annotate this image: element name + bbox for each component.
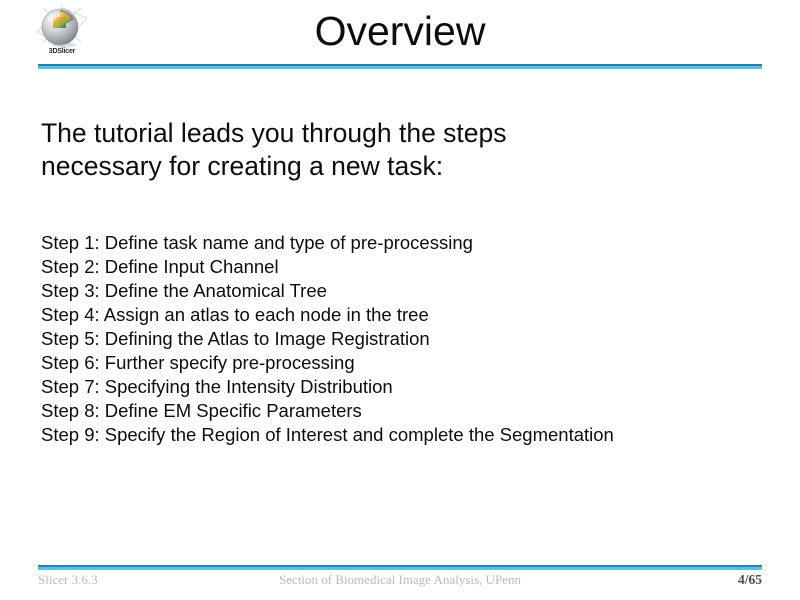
- list-item: Step 9: Specify the Region of Interest a…: [41, 423, 771, 447]
- list-item: Step 5: Defining the Atlas to Image Regi…: [41, 327, 771, 351]
- logo-block: 3DSlicer: [33, 2, 91, 64]
- list-item: Step 2: Define Input Channel: [41, 255, 771, 279]
- list-item: Step 7: Specifying the Intensity Distrib…: [41, 375, 771, 399]
- header-divider: [38, 64, 762, 69]
- list-item: Step 6: Further specify pre-processing: [41, 351, 771, 375]
- list-item: Step 3: Define the Anatomical Tree: [41, 279, 771, 303]
- header-divider-light: [38, 66, 762, 69]
- slide-body: The tutorial leads you through the steps…: [0, 74, 800, 554]
- page-title: Overview: [100, 5, 700, 57]
- logo-label: 3DSlicer: [33, 48, 91, 55]
- page-number: 4/65: [38, 570, 762, 590]
- slide-header: 3DSlicer Overview: [0, 0, 800, 74]
- slide: 3DSlicer Overview The tutorial leads you…: [0, 0, 800, 600]
- slide-footer: Slicer 3.6.3 Section of Biomedical Image…: [0, 570, 800, 600]
- 3d-slicer-logo-icon: [33, 2, 91, 50]
- steps-list: Step 1: Define task name and type of pre…: [41, 231, 771, 447]
- list-item: Step 4: Assign an atlas to each node in …: [41, 303, 771, 327]
- lead-paragraph: The tutorial leads you through the steps…: [41, 117, 741, 183]
- list-item: Step 1: Define task name and type of pre…: [41, 231, 771, 255]
- list-item: Step 8: Define EM Specific Parameters: [41, 399, 771, 423]
